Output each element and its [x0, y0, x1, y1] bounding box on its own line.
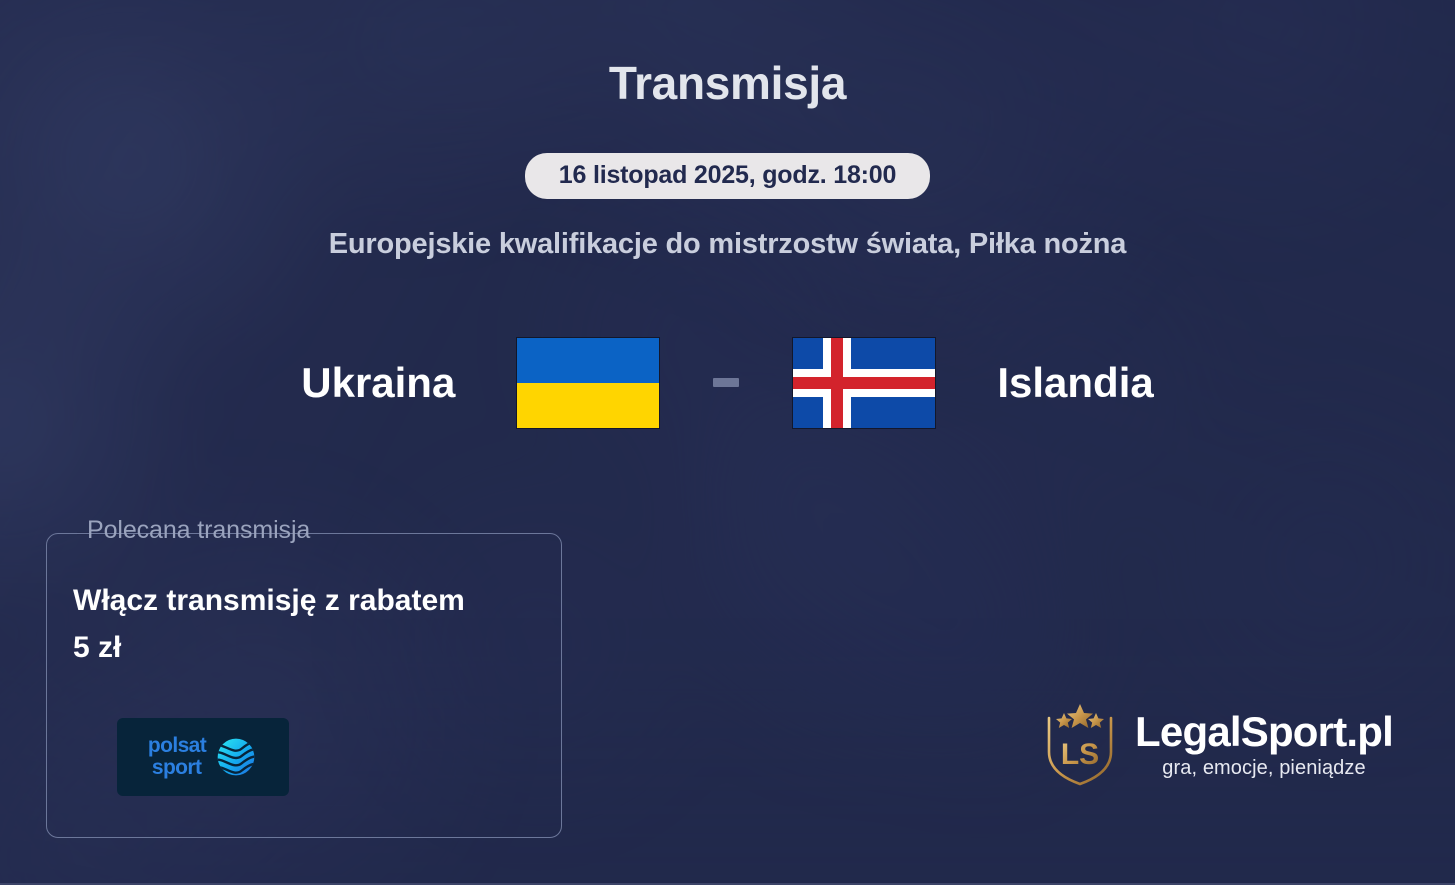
score-separator: [713, 378, 739, 387]
home-team-name: Ukraina: [301, 359, 455, 407]
legalsport-logo[interactable]: LS LegalSport.pl gra, emocje, pieniądze: [1043, 702, 1393, 788]
globe-icon: [214, 735, 258, 779]
recommended-broadcast-box[interactable]: Polecana transmisja Włącz transmisję z r…: [46, 533, 562, 838]
legalsport-monogram: LS: [1061, 738, 1099, 771]
away-team: Islandia: [793, 338, 1153, 428]
polsat-sport-logo[interactable]: polsat sport: [117, 718, 289, 796]
recommended-broadcast-legend: Polecana transmisja: [77, 516, 320, 545]
promo-banner: Transmisja 16 listopad 2025, godz. 18:00…: [0, 0, 1455, 885]
three-stars-icon: [1056, 704, 1104, 728]
iceland-flag-icon: [793, 338, 935, 428]
page-title: Transmisja: [0, 56, 1455, 110]
promo-headline: Włącz transmisję z rabatem 5 zł: [73, 578, 473, 671]
date-badge-container: 16 listopad 2025, godz. 18:00: [0, 153, 1455, 199]
match-datetime-badge: 16 listopad 2025, godz. 18:00: [525, 153, 930, 199]
shield-icon: LS: [1043, 702, 1117, 788]
legalsport-brand-name: LegalSport.pl: [1135, 710, 1393, 754]
match-row: Ukraina Islandia: [0, 330, 1455, 435]
polsat-word-line1: polsat: [148, 735, 206, 757]
polsat-word-line2: sport: [148, 757, 206, 779]
away-team-name: Islandia: [997, 359, 1153, 407]
home-team: Ukraina: [301, 338, 659, 428]
polsat-sport-wordmark: polsat sport: [148, 735, 206, 780]
competition-label: Europejskie kwalifikacje do mistrzostw ś…: [0, 228, 1455, 261]
legalsport-tagline: gra, emocje, pieniądze: [1162, 757, 1365, 780]
legalsport-wordmark: LegalSport.pl gra, emocje, pieniądze: [1135, 710, 1393, 780]
ukraine-flag-icon: [517, 338, 659, 428]
